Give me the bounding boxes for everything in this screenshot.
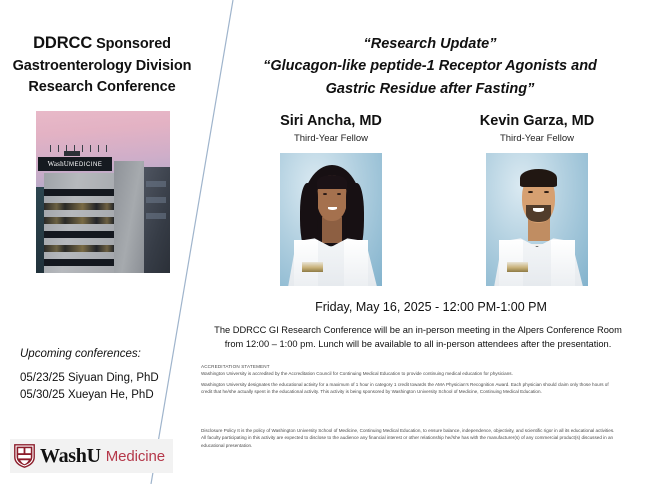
- presenter-name: Siri Ancha, MD: [236, 113, 426, 130]
- presenter-card: Kevin Garza, MD Third-Year Fellow: [442, 113, 632, 286]
- logo-wordmark: WashU: [40, 445, 101, 468]
- accreditation-paragraph-1: Washington University is accredited by t…: [201, 370, 615, 377]
- list-item: 05/30/25 Xueyan He, PhD: [20, 387, 159, 404]
- presenters-row: Siri Ancha, MD Third-Year Fellow: [228, 113, 640, 286]
- photo-main-building: [44, 173, 114, 273]
- upcoming-conferences-list: 05/23/25 Siyuan Ding, PhD 05/30/25 Xueya…: [20, 370, 159, 403]
- accreditation-statement: ACCREDITATION STATEMENT Washington Unive…: [201, 363, 615, 396]
- department-heading: DDRCC Sponsored Gastroenterology Divisio…: [6, 32, 198, 98]
- list-item: 05/23/25 Siyuan Ding, PhD: [20, 370, 159, 387]
- left-column: DDRCC Sponsored Gastroenterology Divisio…: [0, 0, 205, 484]
- presenter-headshot: [280, 153, 382, 286]
- talk-title: “Research Update” “Glucagon-like peptide…: [225, 33, 635, 100]
- washu-shield-icon: [14, 444, 35, 468]
- upcoming-conferences-title: Upcoming conferences:: [20, 348, 141, 360]
- photo-right-wing: [114, 161, 144, 273]
- presenter-role: Third-Year Fellow: [442, 133, 632, 144]
- accreditation-heading: ACCREDITATION STATEMENT: [201, 363, 615, 370]
- presenter-name: Kevin Garza, MD: [442, 113, 632, 130]
- building-photo: WashUMEDICINE: [36, 111, 170, 273]
- department-heading-line3: Research Conference: [28, 79, 175, 95]
- accreditation-paragraph-2: Washington University designates the edu…: [201, 381, 615, 396]
- conference-flyer: DDRCC Sponsored Gastroenterology Divisio…: [0, 0, 645, 484]
- talk-title-line1: “Research Update”: [225, 33, 635, 55]
- department-heading-line1-strong: DDRCC: [33, 34, 92, 52]
- presenter-headshot: [486, 153, 588, 286]
- photo-sign-primary: WashU: [48, 160, 69, 168]
- talk-title-line2: “Glucagon-like peptide-1 Receptor Agonis…: [225, 55, 635, 77]
- talk-title-line3: Gastric Residue after Fasting”: [225, 78, 635, 100]
- photo-building-sign: WashUMEDICINE: [38, 157, 112, 171]
- photo-sign-secondary: MEDICINE: [69, 162, 102, 168]
- department-heading-line1-rest: Sponsored: [92, 36, 171, 52]
- department-heading-line2: Gastroenterology Division: [13, 58, 192, 74]
- event-description: The DDRCC GI Research Conference will be…: [208, 324, 628, 352]
- event-datetime: Friday, May 16, 2025 - 12:00 PM-1:00 PM: [225, 300, 637, 314]
- presenter-card: Siri Ancha, MD Third-Year Fellow: [236, 113, 426, 286]
- logo-subword: Medicine: [106, 448, 165, 465]
- disclosure-paragraph: Disclosure Policy It is the policy of Wa…: [201, 427, 615, 449]
- presenter-role: Third-Year Fellow: [236, 133, 426, 144]
- photo-right-dark-building: [144, 167, 170, 273]
- photo-roof-box: [64, 151, 80, 156]
- disclosure-policy: Disclosure Policy It is the policy of Wa…: [201, 427, 615, 449]
- washu-medicine-logo: WashU Medicine: [10, 439, 173, 473]
